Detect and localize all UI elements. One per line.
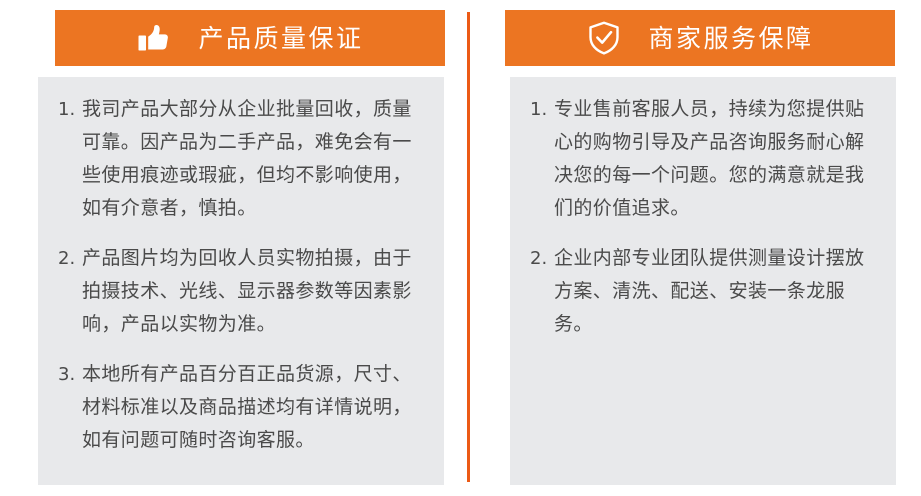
- list-item-number: 2.: [530, 242, 554, 275]
- panel-product-quality-guarantee: 产品质量保证 1. 我司产品大部分从企业批量回收，质量可靠。因产品为二手产品，难…: [0, 0, 461, 496]
- list-item-text: 专业售前客服人员，持续为您提供贴心的购物引导及产品咨询服务耐心解决您的每一个问题…: [554, 93, 878, 225]
- list-item: 3. 本地所有产品百分百正品货源，尺寸、材料标准以及商品描述均有详情说明，如有问…: [58, 358, 426, 457]
- product-quality-title: 产品质量保证: [198, 26, 363, 51]
- list-item: 1. 专业售前客服人员，持续为您提供贴心的购物引导及产品咨询服务耐心解决您的每一…: [530, 93, 878, 225]
- product-quality-body: 1. 我司产品大部分从企业批量回收，质量可靠。因产品为二手产品，难免会有一些使用…: [38, 77, 444, 485]
- list-item-number: 1.: [58, 93, 82, 126]
- merchant-service-list: 1. 专业售前客服人员，持续为您提供贴心的购物引导及产品咨询服务耐心解决您的每一…: [530, 93, 878, 341]
- list-item-number: 2.: [58, 242, 82, 275]
- list-item-text: 我司产品大部分从企业批量回收，质量可靠。因产品为二手产品，难免会有一些使用痕迹或…: [82, 93, 426, 225]
- list-item-number: 1.: [530, 93, 554, 126]
- guarantee-banner: 产品质量保证 1. 我司产品大部分从企业批量回收，质量可靠。因产品为二手产品，难…: [0, 0, 921, 496]
- list-item-text: 产品图片均为回收人员实物拍摄，由于拍摄技术、光线、显示器参数等因素影响，产品以实…: [82, 242, 426, 341]
- list-item: 2. 企业内部专业团队提供测量设计摆放方案、清洗、配送、安装一条龙服务。: [530, 242, 878, 341]
- list-item-number: 3.: [58, 358, 82, 391]
- merchant-service-body: 1. 专业售前客服人员，持续为您提供贴心的购物引导及产品咨询服务耐心解决您的每一…: [510, 77, 896, 485]
- list-item-text: 企业内部专业团队提供测量设计摆放方案、清洗、配送、安装一条龙服务。: [554, 242, 878, 341]
- thumbs-up-icon: [136, 20, 172, 56]
- merchant-service-title: 商家服务保障: [648, 26, 813, 51]
- shield-check-icon: [586, 20, 622, 56]
- merchant-service-header: 商家服务保障: [505, 10, 895, 66]
- list-item: 1. 我司产品大部分从企业批量回收，质量可靠。因产品为二手产品，难免会有一些使用…: [58, 93, 426, 225]
- list-item-text: 本地所有产品百分百正品货源，尺寸、材料标准以及商品描述均有详情说明，如有问题可随…: [82, 358, 426, 457]
- panel-merchant-service-guarantee: 商家服务保障 1. 专业售前客服人员，持续为您提供贴心的购物引导及产品咨询服务耐…: [461, 0, 921, 496]
- product-quality-header: 产品质量保证: [55, 10, 445, 66]
- list-item: 2. 产品图片均为回收人员实物拍摄，由于拍摄技术、光线、显示器参数等因素影响，产…: [58, 242, 426, 341]
- product-quality-list: 1. 我司产品大部分从企业批量回收，质量可靠。因产品为二手产品，难免会有一些使用…: [58, 93, 426, 457]
